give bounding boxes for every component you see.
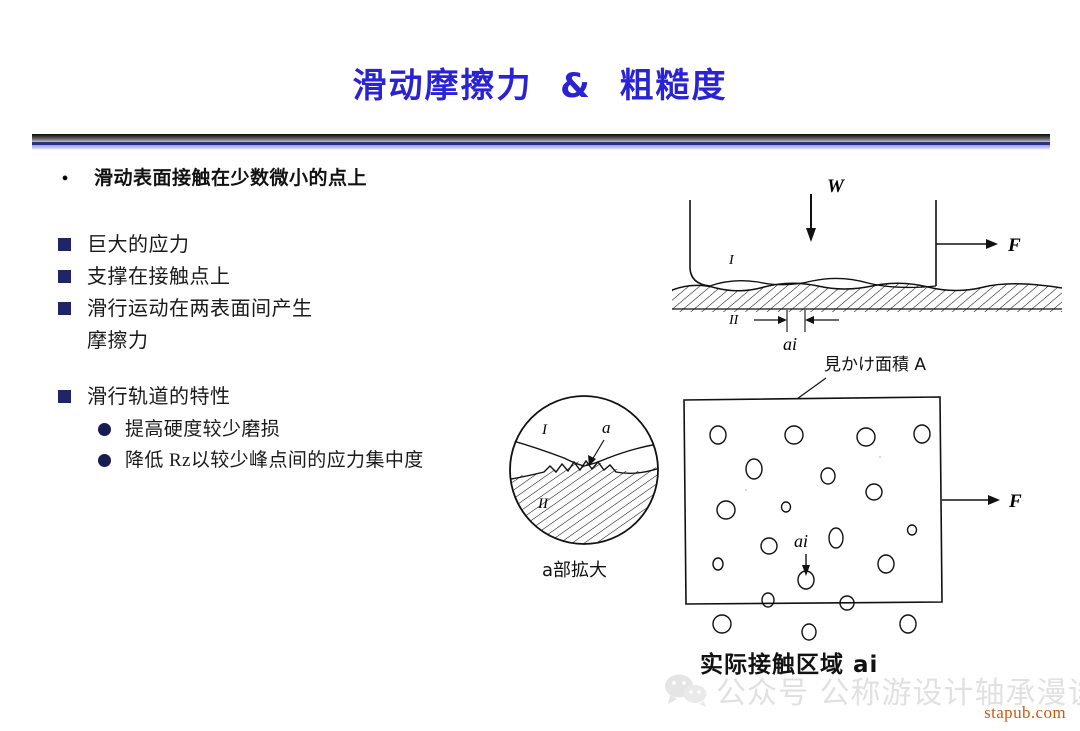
contact-spot <box>713 615 731 633</box>
bullet-column: • 滑动表面接触在少数微小的点上 巨大的应力 支撑在接触点上 滑行运动在两表面间… <box>58 168 488 478</box>
contact-point-leader <box>592 440 604 460</box>
region-lower-label: II <box>728 313 740 328</box>
circle-bullet-icon <box>98 423 111 436</box>
bullet-group-spacer <box>58 354 488 384</box>
site-credit: stapub.com <box>984 703 1066 723</box>
list-item-label: 滑行轨道的特性 <box>87 384 231 410</box>
surface-contact-diagram: W F I II ai <box>672 172 1062 357</box>
lead-bullet-text: 滑动表面接触在少数微小的点上 <box>94 168 367 190</box>
lower-body-hatching <box>498 458 678 558</box>
square-bullet-icon <box>58 270 71 283</box>
title-divider-bar <box>32 134 1050 150</box>
apparent-area-label: 見かけ面積 A <box>824 355 926 375</box>
square-bullet-icon <box>58 238 71 251</box>
list-item: 滑行轨道的特性 <box>58 384 488 410</box>
apparent-area-diagram: 見かけ面積 A ai F <box>676 352 1046 642</box>
contact-point-label: a <box>602 418 611 437</box>
dim-arrow-left <box>778 316 787 324</box>
area-friction-label: F <box>1008 491 1022 512</box>
slider-left-edge <box>690 200 710 286</box>
magnified-contact-circle: I II a a部拡大 <box>488 388 688 588</box>
friction-label: F <box>1007 235 1021 256</box>
list-item: 支撑在接触点上 <box>58 264 488 290</box>
friction-arrow-head <box>986 239 998 249</box>
sub-list-item-label: 降低 Rz以较少峰点间的应力集中度 <box>125 447 424 474</box>
list-item-continuation: 摩擦力 <box>87 328 488 354</box>
contact-spot <box>900 615 916 633</box>
list-item: 巨大的应力 <box>58 232 488 258</box>
load-arrow-head <box>806 228 816 242</box>
contact-spot <box>802 624 816 640</box>
spot-label: ai <box>794 531 808 551</box>
list-item-label: 支撑在接触点上 <box>87 264 231 290</box>
list-item: 滑行运动在两表面间产生 <box>58 296 488 322</box>
dim-arrow-right <box>805 316 814 324</box>
circle-region-lower-label: II <box>537 496 549 512</box>
contact-width-label: ai <box>783 334 797 354</box>
lead-bullet-row: • 滑动表面接触在少数微小的点上 <box>58 168 488 190</box>
dot-bullet-icon: • <box>58 168 72 190</box>
list-item-label: 滑行运动在两表面间产生 <box>87 296 313 322</box>
circle-region-upper-label: I <box>541 422 548 438</box>
list-item-label: 巨大的应力 <box>87 232 190 258</box>
bottom-caption: 实际接触区域 ai <box>700 645 1030 679</box>
square-bullet-icon <box>58 390 71 403</box>
divider-light-band <box>32 145 1050 150</box>
square-bullet-icon <box>58 302 71 315</box>
region-upper-label: I <box>728 253 735 268</box>
circle-caption: a部拡大 <box>542 560 607 581</box>
sub-list-item-label: 提高硬度较少磨损 <box>125 416 280 443</box>
area-friction-arrow-head <box>988 495 1000 505</box>
load-label: W <box>827 176 845 197</box>
sub-list-item: 提高硬度较少磨损 <box>98 416 488 443</box>
page-title: 滑动摩擦力 & 粗糙度 <box>0 58 1080 107</box>
sub-list-item: 降低 Rz以较少峰点间的应力集中度 <box>98 447 488 474</box>
divider-dark-band <box>32 134 1050 142</box>
circle-bullet-icon <box>98 454 111 467</box>
